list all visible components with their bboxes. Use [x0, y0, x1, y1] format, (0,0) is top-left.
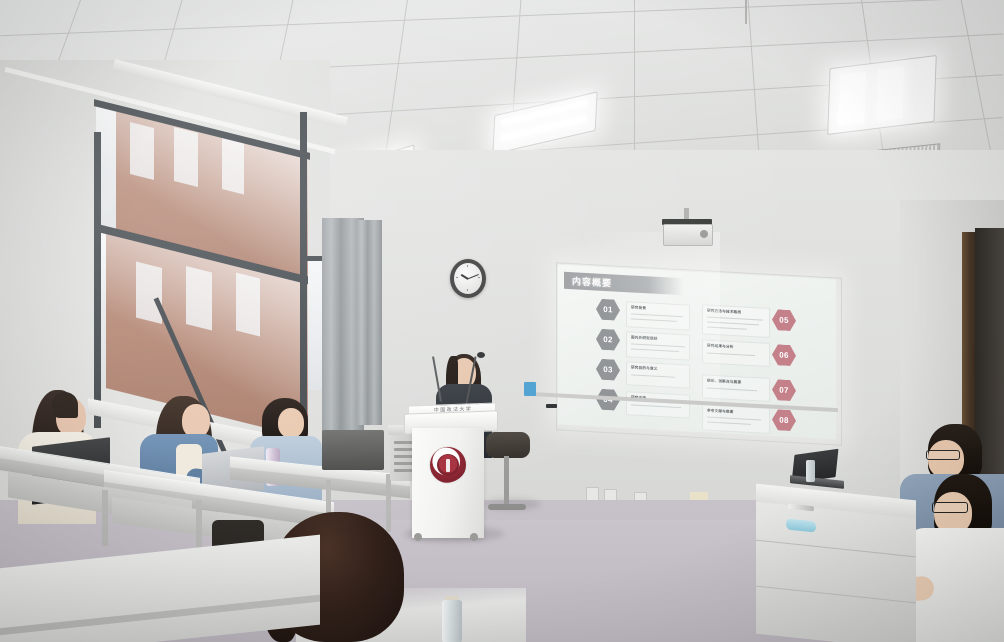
projector-lens-icon [700, 230, 708, 238]
curtain-right[interactable] [356, 220, 382, 425]
slide-heading-05: 研究方法与技术路线 [707, 309, 741, 316]
ceiling-light-panel-right [827, 55, 937, 135]
window-frame-right [300, 112, 307, 442]
slide-footer: · · · · · · · · [566, 416, 610, 422]
slide-title: 内容概要 [572, 274, 612, 289]
slide-textbox-02: 国内外研究现状 [626, 331, 690, 360]
blue-wall-box[interactable] [524, 382, 536, 396]
desk-leg [386, 474, 391, 532]
slide-textbox-03: 研究目的与意义 [626, 361, 690, 388]
podium-caster [414, 533, 422, 541]
slide-hex-06: 06 [772, 344, 796, 366]
slide-textbox-07: 结论、创新点与展望 [702, 374, 770, 402]
bar-stool-seat[interactable] [486, 432, 530, 458]
slide-heading-03: 研究目的与意义 [631, 365, 658, 371]
water-bottle[interactable] [806, 460, 815, 482]
slide-hex-05: 05 [772, 309, 796, 331]
av-equipment-dark [322, 430, 384, 470]
slide-heading-07: 结论、创新点与展望 [707, 379, 741, 386]
head [278, 408, 304, 438]
slide-hex-03: 03 [596, 359, 620, 381]
desk-leg [102, 490, 108, 546]
clock-face [454, 263, 482, 294]
slide-textbox-05: 研究方法与技术路线 [702, 304, 770, 338]
slide-hex-07: 07 [772, 379, 796, 401]
water-bottle[interactable] [442, 600, 462, 642]
slide-textbox-04: 研究内容 [626, 391, 690, 418]
slide-textbox-06: 研究结果与分析 [702, 339, 770, 367]
slide-hex-01: 01 [596, 299, 620, 321]
classroom-photo: 内容概要 01 02 03 04 研究背景 国内外研究现状 研究目的与意义 研究… [0, 0, 1004, 642]
slide-textbox-01: 研究背景 [626, 301, 690, 330]
head [182, 404, 210, 438]
bar-stool-post [504, 456, 509, 506]
slide-heading-06: 研究结果与分析 [707, 344, 734, 350]
hair-front [52, 392, 78, 418]
slide-heading-02: 国内外研究现状 [631, 335, 658, 341]
microphone-head-icon[interactable] [477, 352, 485, 358]
podium-caster [470, 533, 478, 541]
glasses-icon [926, 450, 960, 460]
slide-hex-02: 02 [596, 329, 620, 351]
whiteboard-marker[interactable] [546, 404, 557, 408]
university-emblem [429, 446, 467, 484]
emblem-inner [437, 454, 459, 476]
bar-stool-base [488, 504, 526, 510]
window-frame-left [94, 132, 101, 428]
ceiling-hanger [745, 0, 747, 24]
slide-textbox-08: 参考文献与致谢 [702, 404, 770, 434]
wall-clock [450, 259, 486, 298]
right-desk-front [756, 498, 916, 642]
slide-heading-01: 研究背景 [631, 305, 646, 311]
slide-hex-08: 08 [772, 409, 796, 431]
projection-screen: 内容概要 01 02 03 04 研究背景 国内外研究现状 研究目的与意义 研究… [558, 264, 836, 439]
glasses-icon [932, 502, 968, 513]
emblem-mark [446, 459, 450, 472]
slide-heading-08: 参考文献与致谢 [707, 409, 734, 415]
